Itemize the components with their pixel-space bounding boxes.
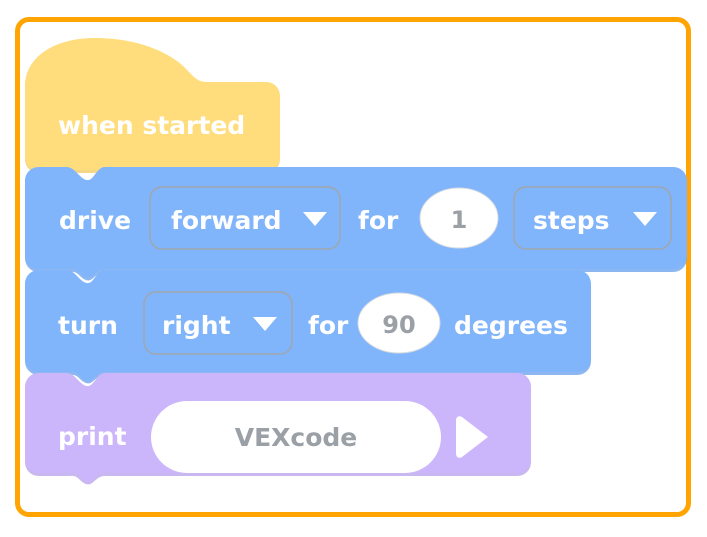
drive-units-dropdown[interactable]: steps: [514, 187, 671, 249]
block-when-started[interactable]: when started: [25, 38, 280, 178]
drive-direction-dropdown[interactable]: forward: [150, 187, 340, 249]
block-print[interactable]: print VEXcode: [25, 373, 531, 501]
drive-for-label: for: [358, 206, 399, 235]
when-started-label: when started: [58, 111, 245, 140]
turn-degrees-label: degrees: [454, 311, 568, 340]
block-drive[interactable]: drive forward for 1 steps: [25, 167, 687, 277]
print-text-input[interactable]: VEXcode: [151, 401, 441, 473]
screenshot-stage: when started drive forward for 1 step: [0, 0, 707, 537]
drive-direction-value: forward: [171, 206, 282, 235]
drive-label: drive: [59, 206, 131, 235]
block-turn[interactable]: turn right for 90 degrees: [25, 270, 591, 380]
print-text-value: VEXcode: [235, 423, 358, 452]
script-stack[interactable]: when started drive forward for 1 step: [0, 0, 707, 537]
turn-angle-value: 90: [382, 311, 415, 339]
when-started-body[interactable]: [25, 38, 280, 178]
turn-direction-value: right: [162, 311, 231, 340]
turn-label: turn: [58, 311, 118, 340]
turn-for-label: for: [308, 311, 349, 340]
turn-direction-dropdown[interactable]: right: [144, 292, 292, 354]
print-label: print: [58, 422, 127, 451]
drive-distance-value: 1: [451, 206, 468, 234]
turn-angle-input[interactable]: 90: [358, 293, 440, 353]
drive-distance-input[interactable]: 1: [420, 188, 498, 248]
drive-units-value: steps: [533, 206, 610, 235]
